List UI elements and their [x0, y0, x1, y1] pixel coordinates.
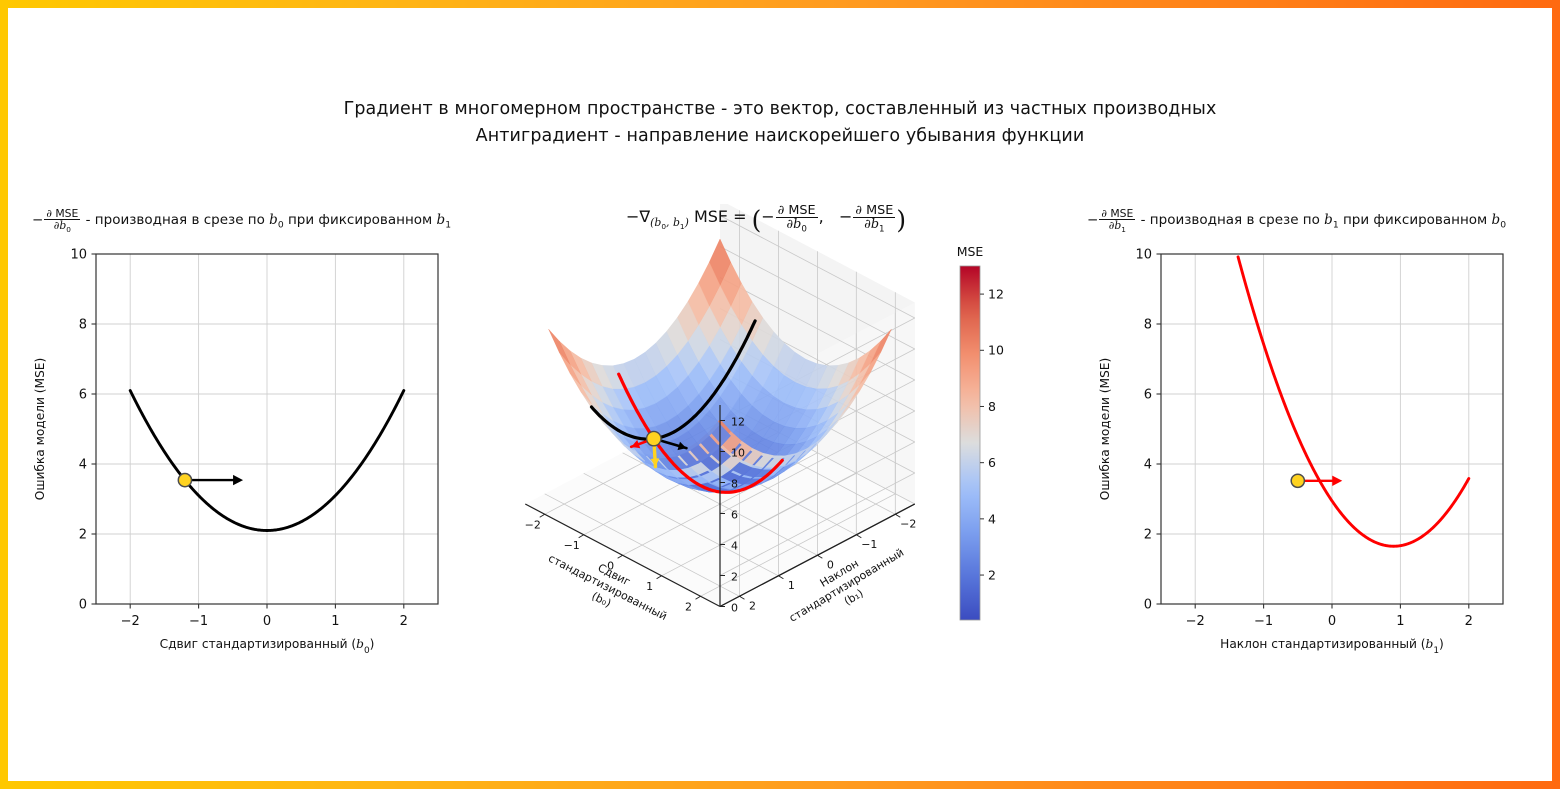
current-point-marker-3d — [647, 431, 661, 445]
b0-tick — [579, 535, 584, 538]
b0-tick-label: −2 — [525, 518, 541, 531]
center-3d-svg: −2−1012210−1−2024681012Сдвигстандартизир… — [508, 204, 1068, 674]
right-title-minus: − — [1087, 212, 1098, 228]
b0-tick — [657, 576, 662, 579]
right-title-mid: при фиксированном — [1339, 212, 1492, 228]
left-chart-svg: −2−10120246810Сдвиг стандартизированный … — [18, 204, 468, 674]
x-axis-label: Наклон стандартизированный (b1) — [1220, 637, 1444, 656]
x-tick-label: −1 — [189, 614, 208, 629]
y-tick-label: 8 — [1144, 318, 1152, 333]
suptitle-line-1: Градиент в многомерном пространстве - эт… — [8, 96, 1552, 123]
figure-suptitle: Градиент в многомерном пространстве - эт… — [8, 96, 1552, 150]
center-frac-b0: ∂ MSE∂b0 — [776, 204, 818, 234]
y-tick-label: 10 — [1135, 248, 1152, 263]
antigradient-arrow-head — [233, 475, 243, 485]
gradient-subscript: (b0, b1) — [650, 216, 689, 229]
colorbar-tick-label: 2 — [988, 567, 996, 582]
y-tick-label: 10 — [70, 248, 87, 263]
colorbar-title: MSE — [957, 244, 984, 259]
colorbar-tick-label: 8 — [988, 399, 996, 414]
center-frac-b1: ∂ MSE∂b1 — [853, 204, 895, 234]
center-chart-title: −∇(b0, b1) MSE = (−∂ MSE∂b0, −∂ MSE∂b1) — [626, 204, 906, 234]
b1-tick-label: −2 — [900, 517, 916, 530]
b0-tick — [696, 596, 701, 599]
b0-tick-label: −1 — [564, 539, 580, 552]
x-axis-label: Сдвиг стандартизированный (b0) — [160, 637, 375, 656]
current-point-marker — [178, 474, 191, 487]
y-axis-label: Ошибка модели (MSE) — [1098, 358, 1112, 501]
colorbar-tick-label: 10 — [988, 343, 1004, 358]
x-tick-label: 0 — [1328, 614, 1336, 629]
left-title-frac-sub: 0 — [66, 225, 71, 234]
y-tick-label: 6 — [79, 388, 87, 403]
x-tick-label: 0 — [263, 614, 271, 629]
right-title-rest: - производная в срезе по — [1136, 212, 1324, 228]
b0-tick — [540, 514, 545, 517]
gradient-symbol: −∇ — [626, 207, 650, 226]
left-title-minus: − — [32, 212, 43, 228]
b0-tick-label: 1 — [646, 580, 653, 593]
left-title-var2-sub: 1 — [445, 220, 451, 231]
y-axis-label: Ошибка модели (MSE) — [33, 358, 47, 501]
y-tick-label: 2 — [1144, 528, 1152, 543]
x-tick-label: 1 — [1396, 614, 1404, 629]
y-tick-label: 4 — [1144, 458, 1152, 473]
current-point-marker — [1291, 474, 1304, 487]
colorbar-tick-label: 12 — [988, 286, 1004, 301]
y-tick-label: 6 — [1144, 388, 1152, 403]
suptitle-line-2: Антиградиент - направление наискорейшего… — [8, 123, 1552, 150]
right-title-fraction: ∂ MSE∂b1 — [1099, 208, 1135, 234]
z-tick-label: 4 — [731, 540, 738, 553]
y-tick-label: 4 — [79, 458, 87, 473]
left-title-mid: при фиксированном — [284, 212, 437, 228]
b1-tick — [739, 596, 744, 599]
z-tick-label: 10 — [731, 447, 745, 460]
close-paren: ) — [896, 205, 906, 234]
right-chart-svg: −2−10120246810Наклон стандартизированный… — [1083, 204, 1552, 674]
x-tick-label: 2 — [1465, 614, 1473, 629]
z-tick-label: 6 — [731, 509, 738, 522]
left-title-fraction: ∂ MSE∂b0 — [44, 208, 80, 234]
left-title-var1: b — [269, 212, 278, 228]
z-tick-label: 0 — [731, 602, 738, 615]
center-chart-panel: −∇(b0, b1) MSE = (−∂ MSE∂b0, −∂ MSE∂b1) … — [508, 204, 1068, 684]
x-tick-label: 2 — [400, 614, 408, 629]
x-tick-label: 1 — [331, 614, 339, 629]
b1-tick-label: 1 — [788, 579, 795, 592]
x-tick-label: −2 — [1186, 614, 1205, 629]
antigradient-arrow-head — [1332, 476, 1342, 486]
b1-tick — [817, 555, 822, 558]
left-chart-title: −∂ MSE∂b0 - производная в срезе по b0 пр… — [32, 208, 451, 234]
right-title-frac-sub: 1 — [1121, 225, 1126, 234]
right-title-var1: b — [1324, 212, 1333, 228]
left-title-var2: b — [437, 212, 446, 228]
y-tick-label: 2 — [79, 528, 87, 543]
x-tick-label: −2 — [121, 614, 140, 629]
b1-tick-label: 2 — [749, 599, 756, 612]
left-title-rest: - производная в срезе по — [81, 212, 269, 228]
z-tick-label: 12 — [731, 416, 745, 429]
z-tick-label: 2 — [731, 571, 738, 584]
b0-tick — [618, 555, 623, 558]
y-tick-label: 0 — [79, 598, 87, 613]
colorbar: MSE24681012 — [957, 244, 1004, 620]
x-tick-label: −1 — [1254, 614, 1273, 629]
mse-curve — [1238, 257, 1469, 546]
colorbar-tick-label: 4 — [988, 511, 996, 526]
figure-canvas: Градиент в многомерном пространстве - эт… — [8, 8, 1552, 781]
right-chart-panel: −∂ MSE∂b1 - производная в срезе по b1 пр… — [1083, 204, 1552, 684]
y-tick-label: 0 — [1144, 598, 1152, 613]
page-border-frame: Градиент в многомерном пространстве - эт… — [0, 0, 1560, 789]
gradient-mse-eq: MSE = — [689, 207, 752, 226]
right-title-var2: b — [1492, 212, 1501, 228]
z-tick-label: 8 — [731, 478, 738, 491]
right-title-var2-sub: 0 — [1500, 220, 1506, 231]
surface-patch — [549, 329, 570, 364]
open-paren: ( — [752, 205, 762, 234]
comma-sep: , − — [819, 207, 853, 226]
colorbar-tick-label: 6 — [988, 455, 996, 470]
y-tick-label: 8 — [79, 318, 87, 333]
right-chart-title: −∂ MSE∂b1 - производная в срезе по b1 пр… — [1087, 208, 1506, 234]
b1-tick-label: −1 — [861, 538, 877, 551]
left-chart-panel: −∂ MSE∂b0 - производная в срезе по b0 пр… — [18, 204, 468, 684]
b1-tick — [778, 576, 783, 579]
colorbar-gradient — [960, 266, 980, 620]
b0-tick-label: 2 — [685, 600, 692, 613]
